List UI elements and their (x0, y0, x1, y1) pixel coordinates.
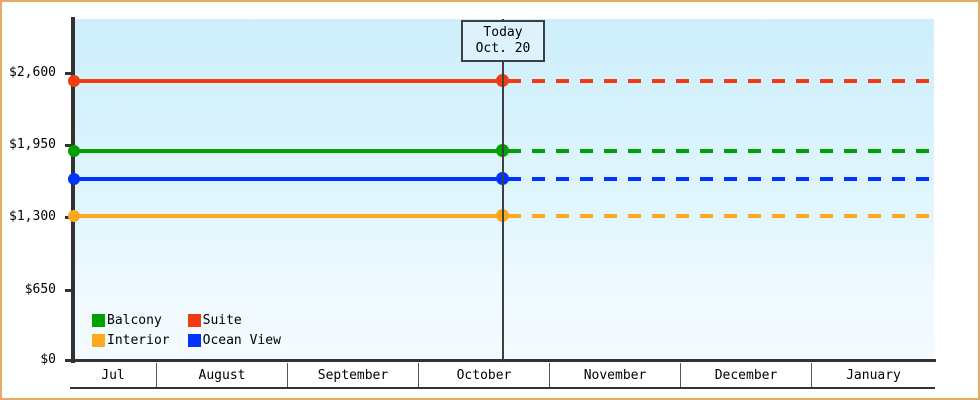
month-cell-january[interactable]: January (812, 363, 935, 387)
y-axis (71, 17, 75, 363)
series-line-balcony-solid (74, 149, 504, 153)
today-label: Today (483, 25, 522, 41)
legend-item-interior[interactable]: Interior (92, 332, 170, 348)
series-line-ocean-view-forecast (508, 177, 934, 181)
legend-swatch-ocean-view (188, 334, 201, 347)
today-date: Oct. 20 (476, 41, 531, 57)
series-marker-ocean-view-start (68, 173, 80, 185)
today-annotation-box: Today Oct. 20 (461, 20, 545, 62)
month-cell-october[interactable]: October (419, 363, 550, 387)
series-line-balcony-forecast (508, 149, 934, 153)
series-marker-suite-start (68, 75, 80, 87)
legend-label-interior: Interior (107, 333, 170, 348)
month-cell-november[interactable]: November (550, 363, 681, 387)
series-marker-balcony-start (68, 145, 80, 157)
legend-label-ocean-view: Ocean View (203, 333, 281, 348)
y-axis-label-0: $0 (40, 352, 56, 367)
month-cell-august[interactable]: August (157, 363, 288, 387)
series-line-suite-solid (74, 79, 504, 83)
series-marker-interior-start (68, 210, 80, 222)
series-line-suite-forecast (508, 79, 934, 83)
y-tick-0 (65, 359, 73, 362)
plot-area (74, 19, 934, 361)
y-tick-650 (65, 289, 73, 292)
y-axis-label-650: $650 (25, 282, 56, 297)
month-axis-row: Jul August September October November De… (70, 363, 935, 389)
month-cell-jul[interactable]: Jul (70, 363, 157, 387)
legend-item-ocean-view[interactable]: Ocean View (188, 332, 281, 348)
y-axis-label-1950: $1,950 (9, 137, 56, 152)
legend-item-suite[interactable]: Suite (188, 312, 281, 328)
legend-label-balcony: Balcony (107, 313, 162, 328)
legend-swatch-suite (188, 314, 201, 327)
legend-swatch-interior (92, 334, 105, 347)
chart-legend: Balcony Suite Interior Ocean View (92, 312, 281, 348)
month-cell-december[interactable]: December (681, 363, 812, 387)
series-line-ocean-view-solid (74, 177, 504, 181)
series-line-interior-solid (74, 214, 504, 218)
legend-label-suite: Suite (203, 313, 242, 328)
legend-item-balcony[interactable]: Balcony (92, 312, 170, 328)
month-cell-september[interactable]: September (288, 363, 419, 387)
chart-canvas: $2,600 $1,950 $1,300 $650 $0 Today Oct. … (0, 0, 980, 400)
today-vertical-line (502, 19, 504, 361)
y-axis-label-1300: $1,300 (9, 209, 56, 224)
series-line-interior-forecast (508, 214, 934, 218)
y-axis-label-2600: $2,600 (9, 65, 56, 80)
legend-swatch-balcony (92, 314, 105, 327)
